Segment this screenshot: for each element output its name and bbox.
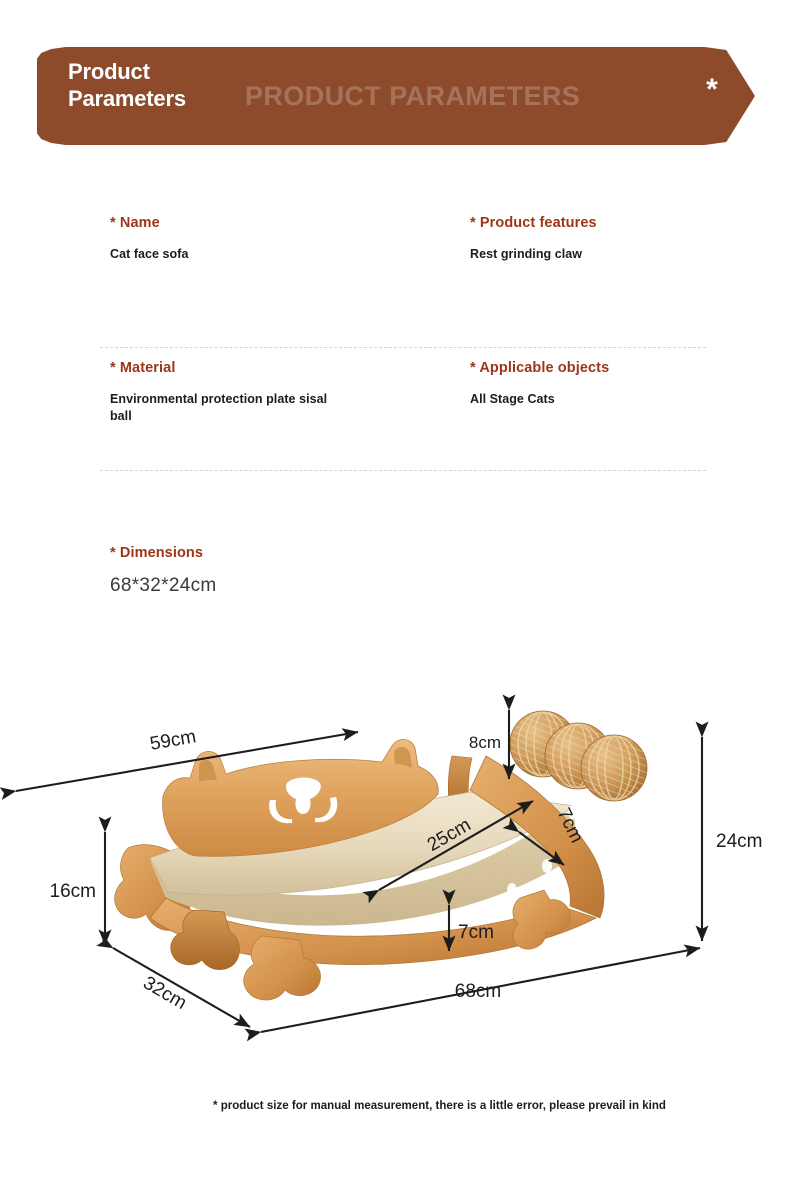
spec-cell-material: * Material Environmental protection plat… (110, 360, 440, 424)
spec-cell-applicable-objects: * Applicable objects All Stage Cats (470, 360, 790, 408)
spec-value-applicable-objects: All Stage Cats (470, 391, 790, 408)
right-foot (513, 890, 570, 949)
spec-row-1: * Name Cat face sofa * Product features … (0, 215, 790, 340)
banner-watermark-text: PRODUCT PARAMETERS (245, 81, 580, 112)
product-dimension-diagram: 59cm 8cm 25cm 7cm 24cm 16cm 7cm 32cm 68c… (0, 660, 790, 1060)
spec-row-2: * Material Environmental protection plat… (0, 340, 790, 515)
spec-value-dimensions: 68*32*24cm (110, 573, 440, 598)
banner-title-line2: Parameters (68, 86, 258, 113)
dim-label-24cm: 24cm (716, 831, 762, 852)
product-parameters-list: * Name Cat face sofa * Product features … (0, 215, 790, 635)
spec-value-product-features: Rest grinding claw (470, 246, 790, 263)
dim-label-68cm: 68cm (455, 981, 501, 1002)
dim-label-8cm: 8cm (469, 733, 501, 752)
spec-row-3: * Dimensions 68*32*24cm (0, 515, 790, 635)
spec-cell-product-features: * Product features Rest grinding claw (470, 215, 790, 263)
spec-label-name: * Name (110, 215, 440, 231)
banner-title: Product Parameters (68, 59, 258, 113)
banner-title-line1: Product (68, 59, 258, 86)
spec-label-applicable-objects: * Applicable objects (470, 360, 790, 376)
spec-label-dimensions: * Dimensions (110, 545, 440, 561)
asterisk-icon: * (697, 75, 727, 105)
spec-cell-dimensions: * Dimensions 68*32*24cm (110, 545, 440, 598)
page-header-banner: Product Parameters PRODUCT PARAMETERS * (37, 47, 755, 145)
spec-value-name: Cat face sofa (110, 246, 440, 263)
spec-cell-name: * Name Cat face sofa (110, 215, 440, 263)
dim-label-7cm-rail: 7cm (458, 922, 494, 943)
sisal-ball-1 (581, 735, 647, 801)
spec-label-product-features: * Product features (470, 215, 790, 231)
spec-label-material: * Material (110, 360, 440, 376)
dim-label-16cm: 16cm (50, 881, 96, 902)
spec-divider-2 (100, 470, 706, 471)
dim-label-59cm: 59cm (148, 726, 197, 755)
spec-value-material: Environmental protection plate sisal bal… (110, 391, 350, 424)
measurement-disclaimer: * product size for manual measurement, t… (213, 1098, 758, 1114)
